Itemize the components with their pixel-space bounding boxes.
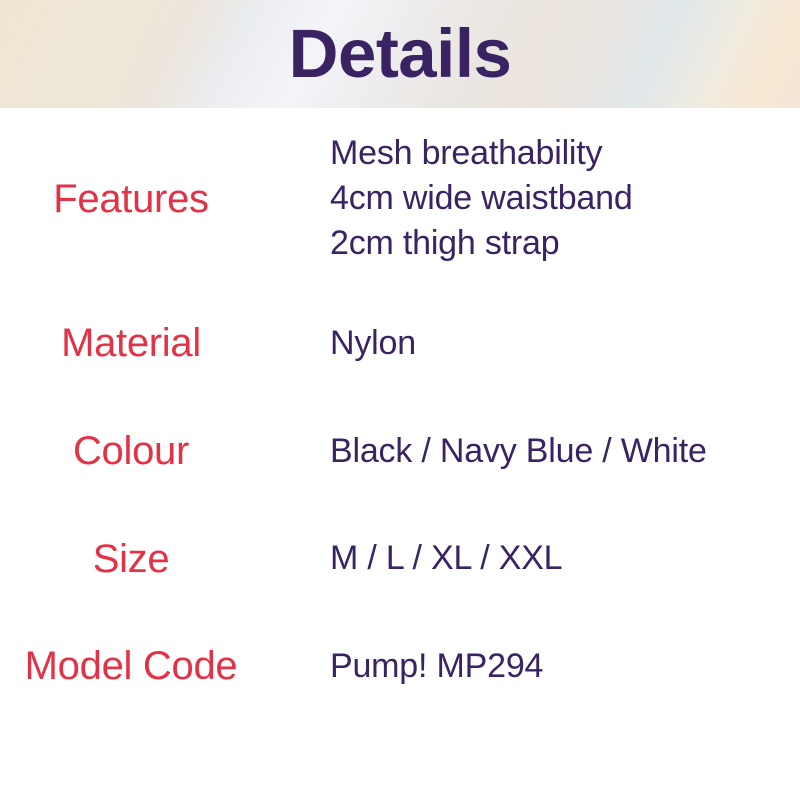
spec-row-colour: Colour Black / Navy Blue / White (0, 397, 800, 505)
spec-label-size: Size (0, 535, 330, 583)
spec-value-features: Mesh breathability 4cm wide waistband 2c… (330, 131, 800, 266)
spec-value-line: 4cm wide waistband (330, 176, 800, 221)
spec-row-material: Material Nylon (0, 289, 800, 397)
spec-row-features: Features Mesh breathability 4cm wide wai… (0, 108, 800, 289)
spec-value-size: M / L / XL / XXL (330, 536, 800, 581)
specification-table: Features Mesh breathability 4cm wide wai… (0, 108, 800, 720)
spec-value-model-code: Pump! MP294 (330, 644, 800, 689)
spec-value-line: 2cm thigh strap (330, 221, 800, 266)
spec-value-line: Nylon (330, 321, 800, 366)
details-page: Details Features Mesh breathability 4cm … (0, 0, 800, 800)
spec-row-size: Size M / L / XL / XXL (0, 505, 800, 612)
spec-label-material: Material (0, 319, 330, 367)
spec-row-model-code: Model Code Pump! MP294 (0, 612, 800, 720)
spec-label-features: Features (0, 175, 330, 223)
page-header: Details (0, 0, 800, 108)
spec-value-line: Mesh breathability (330, 131, 800, 176)
spec-value-colour: Black / Navy Blue / White (330, 429, 800, 474)
spec-value-line: M / L / XL / XXL (330, 536, 800, 581)
spec-value-line: Black / Navy Blue / White (330, 429, 800, 474)
page-title: Details (0, 11, 800, 97)
spec-value-material: Nylon (330, 321, 800, 366)
spec-value-line: Pump! MP294 (330, 644, 800, 689)
spec-label-model-code: Model Code (0, 642, 330, 690)
spec-label-colour: Colour (0, 427, 330, 475)
